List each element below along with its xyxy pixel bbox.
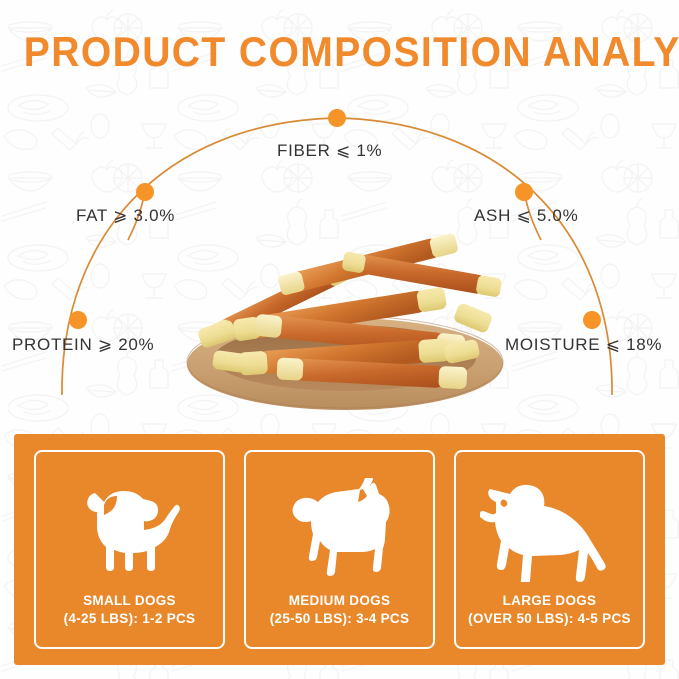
card-text-large: LARGE DOGS (OVER 50 LBS): 4-5 PCS bbox=[468, 592, 631, 628]
dot-fat bbox=[136, 183, 154, 201]
product-composition-infographic: PRODUCT COMPOSITION ANALYSIS FIBER ⩽ 1% … bbox=[0, 0, 679, 679]
card-text-medium: MEDIUM DOGS (25-50 LBS): 3-4 PCS bbox=[270, 592, 410, 628]
nutrient-label-moisture: MOISTURE ⩽ 18% bbox=[505, 335, 662, 355]
feeding-card-medium-dogs[interactable]: MEDIUM DOGS (25-50 LBS): 3-4 PCS bbox=[244, 450, 435, 649]
card-title-small: SMALL DOGS bbox=[64, 592, 196, 610]
nutrient-label-fiber: FIBER ⩽ 1% bbox=[277, 141, 382, 161]
card-title-medium: MEDIUM DOGS bbox=[270, 592, 410, 610]
card-title-large: LARGE DOGS bbox=[468, 592, 631, 610]
product-photo bbox=[155, 212, 525, 417]
card-detail-large: (OVER 50 LBS): 4-5 PCS bbox=[468, 610, 631, 628]
feeding-card-small-dogs[interactable]: SMALL DOGS (4-25 LBS): 1-2 PCS bbox=[34, 450, 225, 649]
dot-fiber bbox=[328, 109, 346, 127]
card-text-small: SMALL DOGS (4-25 LBS): 1-2 PCS bbox=[64, 592, 196, 628]
card-detail-medium: (25-50 LBS): 3-4 PCS bbox=[270, 610, 410, 628]
nutrient-label-protein: PROTEIN ⩾ 20% bbox=[12, 335, 154, 355]
dot-protein bbox=[69, 311, 87, 329]
small-dog-icon bbox=[71, 478, 189, 582]
page-title: PRODUCT COMPOSITION ANALYSIS bbox=[24, 28, 655, 76]
feeding-guide-panel: SMALL DOGS (4-25 LBS): 1-2 PCS MEDIUM DO… bbox=[14, 434, 665, 665]
dot-ash bbox=[515, 183, 533, 201]
dot-moisture bbox=[583, 311, 601, 329]
medium-dog-icon bbox=[278, 478, 402, 582]
large-dog-icon bbox=[480, 478, 620, 582]
feeding-card-large-dogs[interactable]: LARGE DOGS (OVER 50 LBS): 4-5 PCS bbox=[454, 450, 645, 649]
card-detail-small: (4-25 LBS): 1-2 PCS bbox=[64, 610, 196, 628]
